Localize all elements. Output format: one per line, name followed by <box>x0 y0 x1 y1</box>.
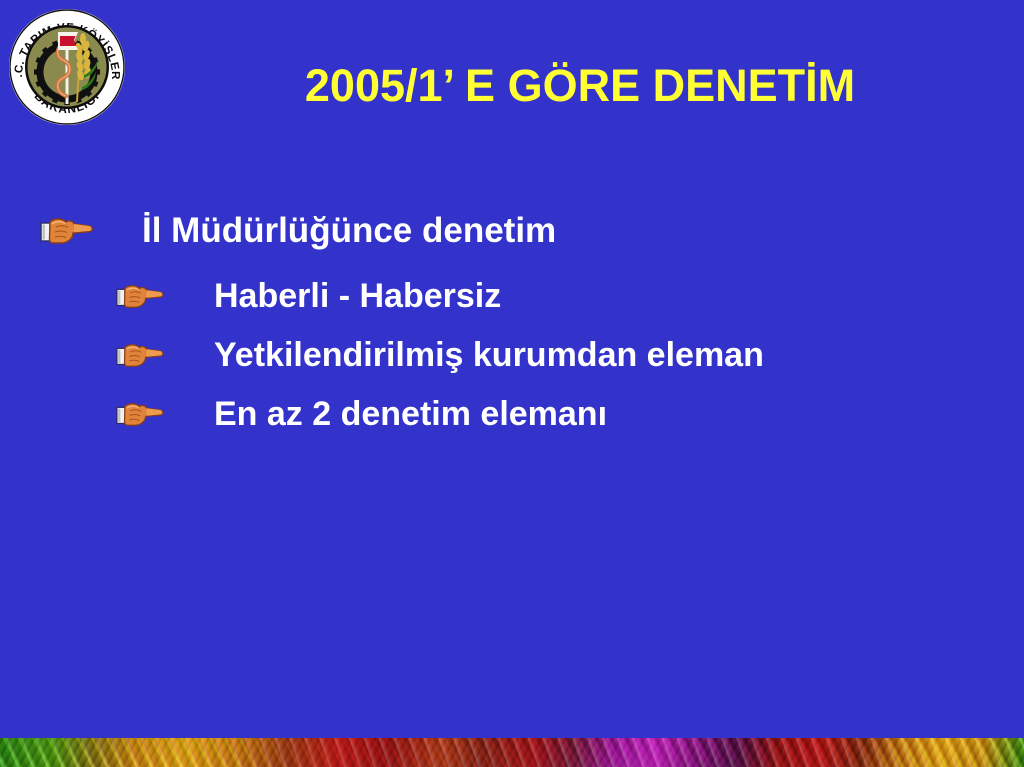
page-title: 2005/1’ E GÖRE DENETİM <box>150 62 1010 109</box>
slide-canvas: T.C. TARIM VE KÖYİŞLERİ BAKANLIĞI <box>0 0 1024 767</box>
pointing-hand-right-icon <box>116 398 168 431</box>
pointing-hand-right-icon <box>116 280 168 313</box>
list-item: İl Müdürlüğünce denetim <box>0 212 1024 251</box>
band-texture-layer-2 <box>0 738 1024 767</box>
decorative-color-band <box>0 738 1024 767</box>
list-item: Yetkilendirilmiş kurumdan eleman <box>0 337 1024 374</box>
ministry-of-agriculture-emblem: T.C. TARIM VE KÖYİŞLERİ BAKANLIĞI <box>6 6 128 128</box>
list-item: Haberli - Habersiz <box>0 278 1024 315</box>
pointing-hand-right-icon <box>40 213 98 249</box>
list-item-label: Haberli - Habersiz <box>214 278 501 315</box>
bullet-list: İl Müdürlüğünce denetim Haberli - Habers… <box>0 212 1024 456</box>
list-item-label: İl Müdürlüğünce denetim <box>142 212 556 251</box>
pointing-hand-right-icon <box>116 339 168 372</box>
list-item-label: En az 2 denetim elemanı <box>214 396 607 433</box>
list-item: En az 2 denetim elemanı <box>0 396 1024 433</box>
list-item-label: Yetkilendirilmiş kurumdan eleman <box>214 337 764 374</box>
